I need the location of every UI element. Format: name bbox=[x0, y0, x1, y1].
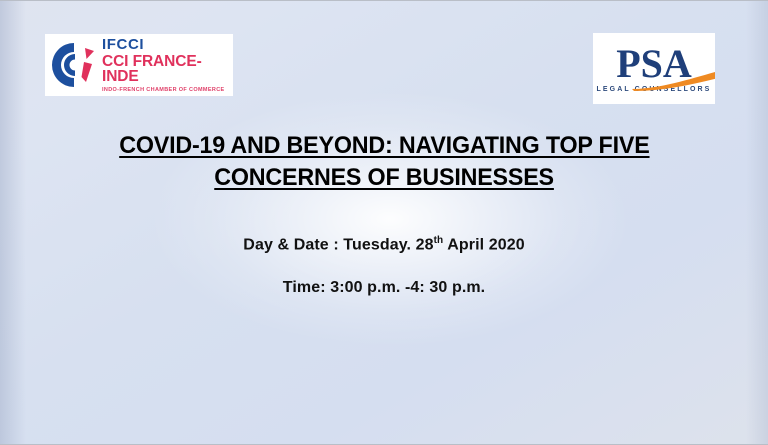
event-date-text: Day & Date : Tuesday. 28 bbox=[243, 236, 433, 253]
ifcci-logo: IFCCI CCI FRANCE-INDE INDO-FRENCH CHAMBE… bbox=[45, 34, 233, 96]
ifcci-emblem-icon bbox=[48, 39, 100, 91]
event-date-ordinal: th bbox=[434, 235, 444, 246]
event-date-month-year: April 2020 bbox=[443, 236, 524, 253]
psa-wordmark: PSA bbox=[616, 45, 692, 83]
presentation-slide: IFCCI CCI FRANCE-INDE INDO-FRENCH CHAMBE… bbox=[0, 0, 768, 445]
ifcci-tagline: INDO-FRENCH CHAMBER OF COMMERCE bbox=[102, 88, 233, 93]
event-date: Day & Date : Tuesday. 28th April 2020 bbox=[0, 235, 768, 254]
title-line-1: COVID-19 AND BEYOND: NAVIGATING TOP FIVE bbox=[119, 131, 649, 161]
psa-tagline: LEGAL COUNSELLORS bbox=[597, 86, 712, 93]
ifcci-name: CCI FRANCE-INDE bbox=[102, 54, 233, 85]
ifcci-wordmark: IFCCI CCI FRANCE-INDE INDO-FRENCH CHAMBE… bbox=[102, 37, 233, 93]
psa-logo: PSA LEGAL COUNSELLORS bbox=[593, 33, 715, 104]
psa-letters: PSA bbox=[616, 41, 692, 86]
page-title: COVID-19 AND BEYOND: NAVIGATING TOP FIVE… bbox=[0, 131, 768, 193]
ifcci-acronym: IFCCI bbox=[102, 37, 233, 52]
event-time: Time: 3:00 p.m. -4: 30 p.m. bbox=[0, 279, 768, 297]
title-line-2: CONCERNES OF BUSINESSES bbox=[214, 163, 554, 193]
